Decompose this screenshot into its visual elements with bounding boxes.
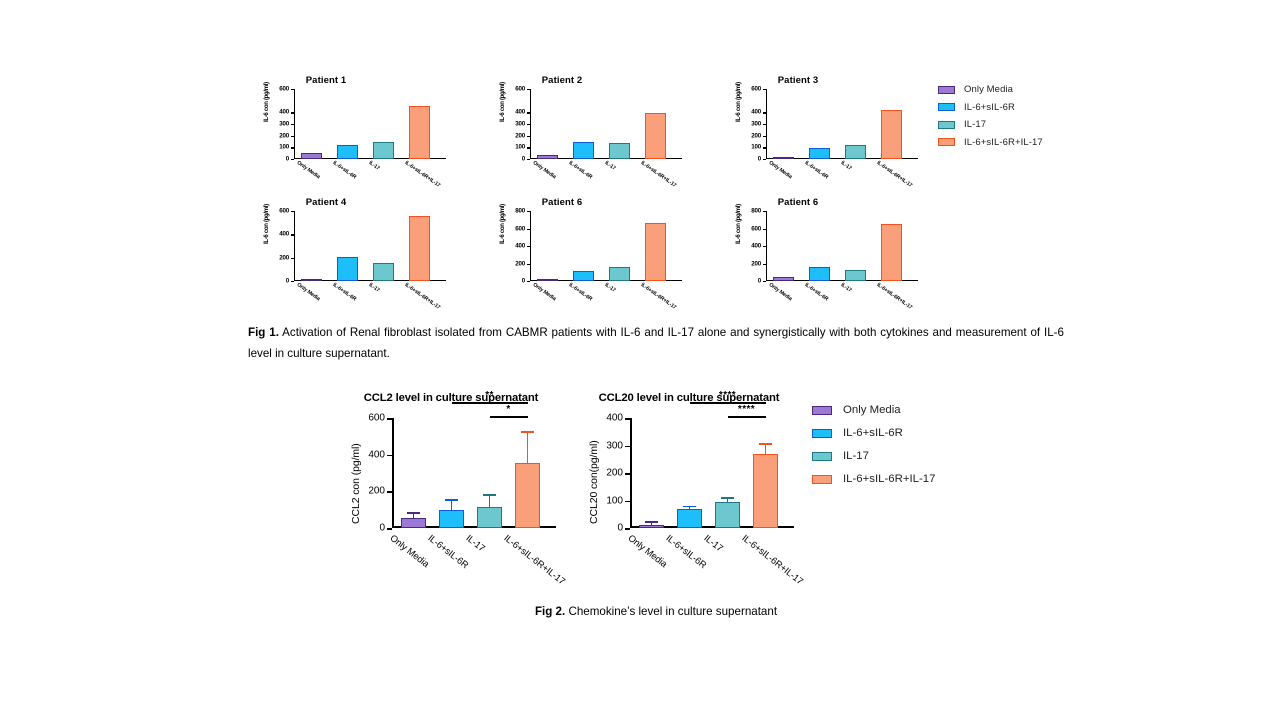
- x-axis-tick-label: IL-6+sIL-6R: [804, 160, 830, 180]
- x-axis-tick-label: IL-6+sIL-6R: [568, 160, 594, 180]
- legend-swatch-icon: [938, 138, 955, 146]
- x-axis-tick-label: IL-6+sIL-6R+IL-17: [404, 160, 442, 189]
- bar: [573, 142, 594, 160]
- error-bar-cap: [483, 494, 496, 496]
- plot-area: 0200400600800: [766, 211, 901, 281]
- bar: [337, 145, 358, 159]
- significance-star: *: [506, 404, 510, 415]
- y-axis-tick-label: 600: [515, 225, 525, 232]
- x-axis-tick-label: IL-6+sIL-6R+IL-17: [502, 532, 567, 586]
- error-bar: [765, 445, 767, 454]
- bar: [609, 267, 630, 281]
- chemokine-chart-panel: CCL2 level in culture supernatantCCL2 co…: [330, 392, 570, 597]
- bar: [881, 224, 902, 281]
- bar: [439, 510, 464, 528]
- plot-area: 0200400600800: [530, 211, 665, 281]
- bar: [301, 279, 322, 281]
- x-axis-tick-label: IL-6+sIL-6R+IL-17: [876, 282, 914, 311]
- y-axis-tick-label: 200: [751, 260, 761, 267]
- bar: [881, 110, 902, 159]
- legend-item: IL-17: [812, 450, 1012, 462]
- legend-label: IL-17: [843, 450, 869, 462]
- legend-swatch-icon: [812, 475, 832, 484]
- y-axis-tick-label: 400: [279, 231, 289, 238]
- significance-bracket: [490, 416, 528, 418]
- figure-2-caption: Fig 2. Chemokine’s level in culture supe…: [248, 602, 1064, 621]
- bar: [773, 277, 794, 281]
- patient-chart-panel: Patient 2IL-6 con (pg/ml)010020030040060…: [468, 72, 704, 192]
- y-axis-tick-label: 200: [606, 468, 623, 479]
- legend-item: IL-6+sIL-6R: [938, 102, 1118, 113]
- y-axis-label: CCL2 con (pg/ml): [350, 443, 362, 524]
- y-axis-tick-label: 200: [279, 132, 289, 139]
- bar: [645, 113, 666, 159]
- chemokine-chart-panel: CCL20 level in culture supernatantCCL20 …: [568, 392, 808, 597]
- patient-chart-panel: Patient 4IL-6 con (pg/ml)0200400600Only …: [232, 194, 468, 314]
- y-axis-tick-label: 400: [751, 109, 761, 116]
- bar-group: [766, 211, 918, 281]
- patient-chart-panel: Patient 6IL-6 con (pg/ml)0200400600800On…: [468, 194, 704, 314]
- y-axis-tick-label: 600: [368, 413, 385, 424]
- y-axis-label: CCL20 con(pg/ml): [588, 440, 600, 524]
- legend-item: IL-6+sIL-6R: [812, 427, 1012, 439]
- y-axis-tick-label: 100: [606, 495, 623, 506]
- x-axis-tick-label: IL-17: [604, 282, 617, 294]
- x-axis-tick-labels: Only MediaIL-6+sIL-6RIL-17IL-6+sIL-6R+IL…: [530, 282, 690, 316]
- plot-area: 0200400600***: [392, 418, 542, 528]
- patient-chart-panel: Patient 1IL-6 con (pg/ml)010020030040060…: [232, 72, 468, 192]
- x-axis-tick-label: IL-6+sIL-6R+IL-17: [740, 532, 805, 586]
- legend-item: Only Media: [938, 84, 1118, 95]
- x-axis-tick-label: IL-6+sIL-6R+IL-17: [640, 282, 678, 311]
- x-axis-tick-label: Only Media: [296, 282, 321, 302]
- legend-label: IL-6+sIL-6R+IL-17: [843, 473, 935, 485]
- patient-chart-panel: Patient 3IL-6 con (pg/ml)010020030040060…: [704, 72, 940, 192]
- legend-item: IL-6+sIL-6R+IL-17: [938, 137, 1118, 148]
- bar: [809, 267, 830, 281]
- figure-1-caption-label: Fig 1.: [248, 326, 279, 339]
- y-axis-tick-label: 0: [286, 156, 289, 163]
- bar-group: [294, 89, 446, 159]
- bar: [573, 271, 594, 282]
- y-axis-tick-label: 800: [515, 208, 525, 215]
- bar: [537, 155, 558, 159]
- plot-area: 0100200300400600: [766, 89, 901, 159]
- error-bar-cap: [445, 499, 458, 501]
- chart-title: Patient 6: [704, 197, 892, 208]
- x-axis-tick-label: IL-6+sIL-6R: [426, 532, 471, 570]
- bar: [409, 216, 430, 281]
- chart-title: Patient 6: [468, 197, 656, 208]
- y-axis-tick-label: 0: [286, 278, 289, 285]
- error-bar: [689, 507, 691, 509]
- significance-bracket: [452, 402, 528, 404]
- x-axis-tick-label: IL-17: [368, 160, 381, 172]
- bar: [373, 263, 394, 281]
- significance-star: ****: [738, 404, 755, 415]
- error-bar: [651, 523, 653, 525]
- x-axis-tick-label: Only Media: [532, 160, 557, 180]
- bar: [515, 463, 540, 528]
- plot-area: 0100200300400********: [630, 418, 780, 528]
- legend-label: IL-6+sIL-6R: [964, 102, 1015, 113]
- x-axis-tick-label: IL-6+sIL-6R: [568, 282, 594, 302]
- x-axis-tick-labels: Only MediaIL-6+sIL-6RIL-17IL-6+sIL-6R+IL…: [294, 160, 454, 194]
- x-axis-tick-label: Only Media: [532, 282, 557, 302]
- error-bar: [527, 433, 529, 463]
- bar: [409, 106, 430, 159]
- legend-label: IL-17: [964, 119, 986, 130]
- bar: [477, 507, 502, 528]
- bar-group: [630, 418, 794, 528]
- y-axis-tick-label: 200: [751, 132, 761, 139]
- y-axis-tick-label: 100: [279, 144, 289, 151]
- y-axis-tick-label: 600: [279, 86, 289, 93]
- x-axis-tick-label: IL-17: [464, 532, 487, 554]
- y-axis-tick-label: 200: [368, 486, 385, 497]
- legend-swatch-icon: [812, 406, 832, 415]
- x-axis-tick-label: IL-6+sIL-6R: [332, 160, 358, 180]
- legend-swatch-icon: [938, 86, 955, 94]
- chart-title: Patient 1: [232, 75, 420, 86]
- legend-swatch-icon: [938, 103, 955, 111]
- y-axis-label: IL-6 con (pg/ml): [264, 82, 270, 122]
- legend-label: IL-6+sIL-6R+IL-17: [964, 137, 1043, 148]
- x-axis-tick-label: IL-6+sIL-6R+IL-17: [876, 160, 914, 189]
- bar: [401, 518, 426, 528]
- x-axis-tick-label: IL-6+sIL-6R+IL-17: [640, 160, 678, 189]
- error-bar-cap: [521, 431, 534, 433]
- error-bar: [451, 501, 453, 510]
- legend-label: Only Media: [964, 84, 1013, 95]
- y-axis-tick-label: 0: [522, 156, 525, 163]
- chart-title: Patient 4: [232, 197, 420, 208]
- legend-item: IL-17: [938, 119, 1118, 130]
- error-bar-cap: [683, 506, 696, 508]
- error-bar-cap: [645, 521, 658, 523]
- legend-item: Only Media: [812, 404, 1012, 416]
- y-axis-label: IL-6 con (pg/ml): [500, 204, 506, 244]
- y-axis-tick-label: 600: [751, 86, 761, 93]
- x-axis-tick-labels: Only MediaIL-6+sIL-6RIL-17IL-6+sIL-6R+IL…: [628, 532, 808, 592]
- bar: [753, 454, 778, 528]
- x-axis-tick-labels: Only MediaIL-6+sIL-6RIL-17IL-6+sIL-6R+IL…: [766, 160, 926, 194]
- y-axis-tick: [625, 528, 630, 530]
- y-axis-label: IL-6 con (pg/ml): [736, 82, 742, 122]
- x-axis-tick-label: Only Media: [768, 282, 793, 302]
- y-axis-tick-label: 0: [379, 523, 385, 534]
- y-axis-tick-label: 100: [515, 144, 525, 151]
- legend-label: IL-6+sIL-6R: [843, 427, 903, 439]
- significance-star: **: [485, 390, 494, 401]
- y-axis-tick-label: 600: [751, 225, 761, 232]
- y-axis-tick-label: 800: [751, 208, 761, 215]
- y-axis-label: IL-6 con (pg/ml): [264, 204, 270, 244]
- bar: [677, 509, 702, 528]
- bar-group: [294, 211, 446, 281]
- y-axis-tick-label: 200: [279, 254, 289, 261]
- error-bar-cap: [407, 512, 420, 514]
- y-axis-tick-label: 400: [515, 109, 525, 116]
- y-axis-tick-label: 100: [751, 144, 761, 151]
- legend-swatch-icon: [812, 429, 832, 438]
- error-bar-cap: [721, 497, 734, 499]
- y-axis-tick-label: 300: [279, 121, 289, 128]
- x-axis-tick-label: IL-17: [368, 282, 381, 294]
- bar: [337, 257, 358, 281]
- x-axis-tick-labels: Only MediaIL-6+sIL-6RIL-17IL-6+sIL-6R+IL…: [390, 532, 570, 592]
- x-axis-tick-label: Only Media: [626, 532, 669, 569]
- plot-area: 0100200300400600: [294, 89, 429, 159]
- significance-star: ****: [719, 390, 736, 401]
- y-axis-tick-label: 0: [617, 523, 623, 534]
- y-axis-tick-label: 0: [758, 278, 761, 285]
- figure-2-caption-text: Chemokine’s level in culture supernatant: [565, 605, 777, 618]
- y-axis-label: IL-6 con (pg/ml): [736, 204, 742, 244]
- x-axis-tick-label: Only Media: [768, 160, 793, 180]
- y-axis-tick-label: 300: [515, 121, 525, 128]
- y-axis-tick-label: 200: [515, 260, 525, 267]
- x-axis-tick-label: Only Media: [388, 532, 431, 569]
- y-axis-tick-label: 300: [751, 121, 761, 128]
- y-axis-tick-label: 0: [758, 156, 761, 163]
- figure-1-caption: Fig 1. Activation of Renal fibroblast is…: [248, 322, 1064, 364]
- x-axis-tick-label: IL-17: [840, 160, 853, 172]
- x-axis-tick-label: IL-6+sIL-6R: [664, 532, 709, 570]
- legend-label: Only Media: [843, 404, 901, 416]
- significance-bracket: [728, 416, 766, 418]
- patient-chart-panel: Patient 6IL-6 con (pg/ml)0200400600800On…: [704, 194, 940, 314]
- x-axis-tick-label: IL-17: [604, 160, 617, 172]
- legend-swatch-icon: [812, 452, 832, 461]
- x-axis-tick-label: IL-17: [840, 282, 853, 294]
- legend-item: IL-6+sIL-6R+IL-17: [812, 473, 1012, 485]
- bar-group: [766, 89, 918, 159]
- x-axis-tick-label: IL-17: [702, 532, 725, 554]
- figure-1-legend: Only MediaIL-6+sIL-6RIL-17IL-6+sIL-6R+IL…: [938, 84, 1118, 154]
- y-axis-tick: [387, 528, 392, 530]
- x-axis-tick-label: Only Media: [296, 160, 321, 180]
- y-axis-tick-label: 400: [606, 413, 623, 424]
- y-axis-tick-label: 400: [368, 449, 385, 460]
- figure-1-caption-text: Activation of Renal fibroblast isolated …: [248, 326, 1064, 360]
- bar: [645, 223, 666, 281]
- figure-2-legend: Only MediaIL-6+sIL-6RIL-17IL-6+sIL-6R+IL…: [812, 404, 1012, 496]
- y-axis-tick-label: 200: [515, 132, 525, 139]
- error-bar: [413, 514, 415, 518]
- bar: [609, 143, 630, 159]
- bar: [537, 279, 558, 281]
- bar: [845, 270, 866, 281]
- y-axis-tick-label: 400: [515, 243, 525, 250]
- y-axis-tick-label: 400: [751, 243, 761, 250]
- plot-area: 0200400600: [294, 211, 429, 281]
- bar: [845, 145, 866, 159]
- y-axis-tick-label: 300: [606, 440, 623, 451]
- bar: [715, 502, 740, 528]
- bar: [809, 148, 830, 159]
- y-axis-tick-label: 0: [522, 278, 525, 285]
- error-bar: [727, 499, 729, 502]
- bar-group: [530, 89, 682, 159]
- x-axis-tick-label: IL-6+sIL-6R: [332, 282, 358, 302]
- x-axis-tick-labels: Only MediaIL-6+sIL-6RIL-17IL-6+sIL-6R+IL…: [766, 282, 926, 316]
- x-axis-tick-labels: Only MediaIL-6+sIL-6RIL-17IL-6+sIL-6R+IL…: [530, 160, 690, 194]
- figure-page: Patient 1IL-6 con (pg/ml)010020030040060…: [0, 0, 1280, 720]
- bar-group: [392, 418, 556, 528]
- x-axis-tick-labels: Only MediaIL-6+sIL-6RIL-17IL-6+sIL-6R+IL…: [294, 282, 454, 316]
- plot-area: 0100200300400600: [530, 89, 665, 159]
- chart-title: Patient 2: [468, 75, 656, 86]
- bar: [639, 525, 664, 528]
- y-axis-label: IL-6 con (pg/ml): [500, 82, 506, 122]
- y-axis-tick-label: 600: [279, 208, 289, 215]
- bar: [373, 142, 394, 159]
- x-axis-tick-label: IL-6+sIL-6R: [804, 282, 830, 302]
- x-axis-tick-label: IL-6+sIL-6R+IL-17: [404, 282, 442, 311]
- y-axis-tick-label: 600: [515, 86, 525, 93]
- bar-group: [530, 211, 682, 281]
- error-bar-cap: [759, 443, 772, 445]
- legend-swatch-icon: [938, 121, 955, 129]
- error-bar: [489, 496, 491, 507]
- figure-2-caption-label: Fig 2.: [535, 605, 565, 618]
- bar: [773, 157, 794, 159]
- bar: [301, 153, 322, 159]
- y-axis-tick-label: 400: [279, 109, 289, 116]
- chart-title: Patient 3: [704, 75, 892, 86]
